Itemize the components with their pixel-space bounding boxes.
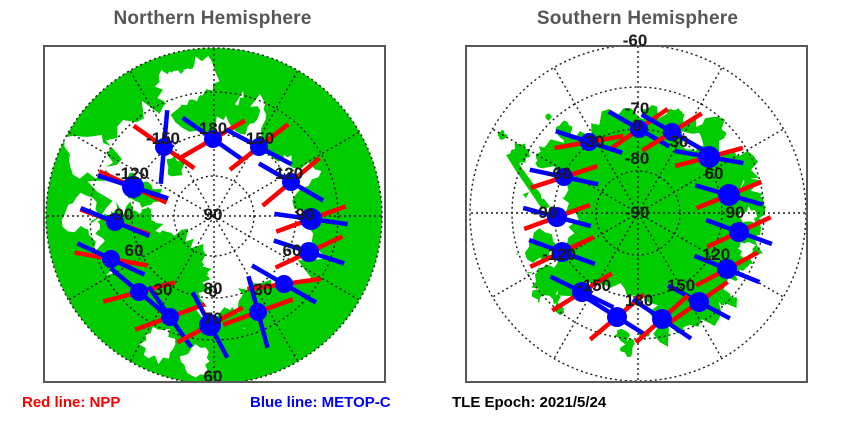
grid-label-north-12: -120 [115, 164, 149, 184]
grid-label-south-8: 120 [702, 245, 730, 265]
legend-blue-line: Blue line: METOP-C [250, 394, 391, 411]
grid-label-north-0: 90 [204, 205, 223, 225]
grid-label-south-12: -120 [542, 245, 576, 265]
grid-label-south-5: 30 [670, 132, 689, 152]
grid-label-south-0: -90 [625, 203, 650, 223]
grid-label-north-14: 30 [154, 280, 173, 300]
grid-label-south-14: -60 [547, 164, 572, 184]
grid-label-south-6: 60 [705, 164, 724, 184]
grid-label-south-13: -90 [533, 203, 558, 223]
page-title-southern: Southern Hemisphere [425, 8, 850, 30]
grid-label-south-4: 0 [632, 116, 641, 136]
grid-label-north-3: 60 [204, 367, 223, 383]
grid-label-north-6: 60 [283, 241, 302, 261]
plot-northern: 908070600306090120150180-150-120-903060 [43, 45, 386, 383]
grid-label-north-10: 180 [199, 119, 227, 139]
grid-label-north-7: 90 [296, 205, 315, 225]
grid-label-south-1: -80 [625, 149, 650, 169]
grid-label-south-15: -30 [580, 132, 605, 152]
legend-red-line: Red line: NPP [22, 394, 120, 411]
grid-label-minus60-top: -60 [623, 31, 648, 51]
grid-label-south-10: 180 [625, 291, 653, 311]
grid-label-north-8: 120 [275, 164, 303, 184]
grid-label-north-11: -150 [146, 129, 180, 149]
grid-label-north-5: 30 [254, 280, 273, 300]
legend-tle-epoch: TLE Epoch: 2021/5/24 [452, 394, 606, 411]
grid-label-north-2: 70 [204, 309, 223, 329]
plot-southern: -90-80-700306090120150180-150-120-90-60-… [465, 45, 808, 383]
panel-southern-hemisphere: Southern Hemisphere -90-80-7003060901201… [425, 0, 850, 425]
legend: Red line: NPP Blue line: METOP-C TLE Epo… [0, 384, 850, 425]
grid-label-north-9: 150 [246, 129, 274, 149]
grid-label-south-9: 150 [667, 276, 695, 296]
grid-label-north-15: 60 [125, 241, 144, 261]
panel-northern-hemisphere: Northern Hemisphere 90807060030609012015… [0, 0, 425, 425]
grid-label-north-4: 0 [208, 282, 217, 302]
grid-label-north-13: -90 [109, 205, 134, 225]
page-title-northern: Northern Hemisphere [0, 8, 425, 30]
grid-label-south-7: 90 [726, 203, 745, 223]
grid-label-south-11: -150 [577, 276, 611, 296]
